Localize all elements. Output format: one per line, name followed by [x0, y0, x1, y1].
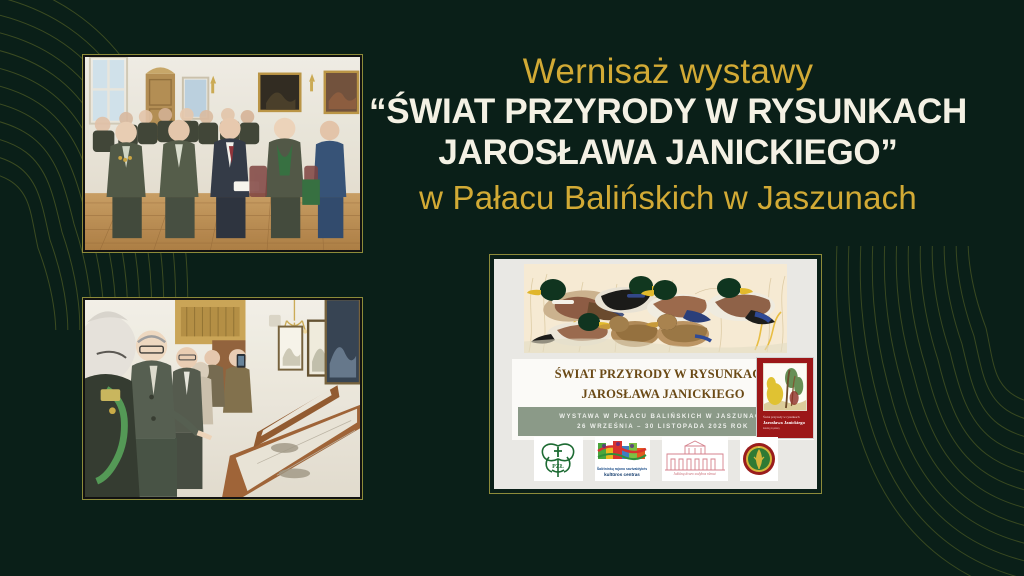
poster-info-line1: WYSTAWA W PAŁACU BALIŃSKICH W JASZUNACH [559, 412, 766, 421]
catalogue-cover-insert: Świat przyrody w rysunkach Jarosława Jan… [756, 357, 814, 439]
poster-logo-strip: PZŁ [494, 435, 817, 482]
logo-kc-caption2: kultūros centras [604, 472, 640, 478]
catalogue-small-text: katalog wystawy [763, 428, 807, 432]
mallard-ducks-painting [524, 264, 787, 353]
presentation-slide: Wernisaż wystawy “ŚWIAT PRZYRODY W RYSUN… [0, 0, 1024, 576]
exhibition-poster: ŚWIAT PRZYRODY W RYSUNKACH JAROSŁAWA JAN… [489, 254, 822, 494]
logo-pzl: PZŁ [534, 437, 583, 481]
photo-audience-image [85, 57, 360, 250]
title-line-swiat-przyrody: “ŚWIAT PRZYRODY W RYSUNKACH [352, 92, 984, 133]
logo-palace-caption: Jašiūnų dvaro sodybos rūmai [673, 472, 715, 477]
catalogue-line2: Jarosława Janickiego [763, 420, 807, 426]
logo-seal: ★ [740, 437, 778, 481]
logo-palace: Jašiūnų dvaro sodybos rūmai [662, 437, 728, 481]
photo-visitors [82, 297, 363, 500]
poster-info-line2: 26 WRZEŚNIA – 30 LISTOPADA 2025 ROK [577, 422, 749, 431]
photo-visitors-image [85, 300, 360, 497]
svg-text:★: ★ [757, 446, 759, 449]
poster-sheet: ŚWIAT PRZYRODY W RYSUNKACH JAROSŁAWA JAN… [494, 259, 817, 489]
page-title: Wernisaż wystawy “ŚWIAT PRZYRODY W RYSUN… [352, 52, 984, 217]
catalogue-cover-illustration [763, 363, 807, 411]
title-line-location: w Pałacu Balińskich w Jaszunach [352, 179, 984, 217]
title-line-wernisaz: Wernisaż wystawy [352, 52, 984, 92]
photo-audience [82, 54, 363, 253]
logo-kulturos-centras: Šalčininkų rajono savivaldybės kultūros … [595, 437, 650, 481]
title-line-jaroslawa-janickiego: JAROSŁAWA JANICKIEGO” [352, 133, 984, 174]
svg-text:PZŁ: PZŁ [552, 464, 564, 470]
